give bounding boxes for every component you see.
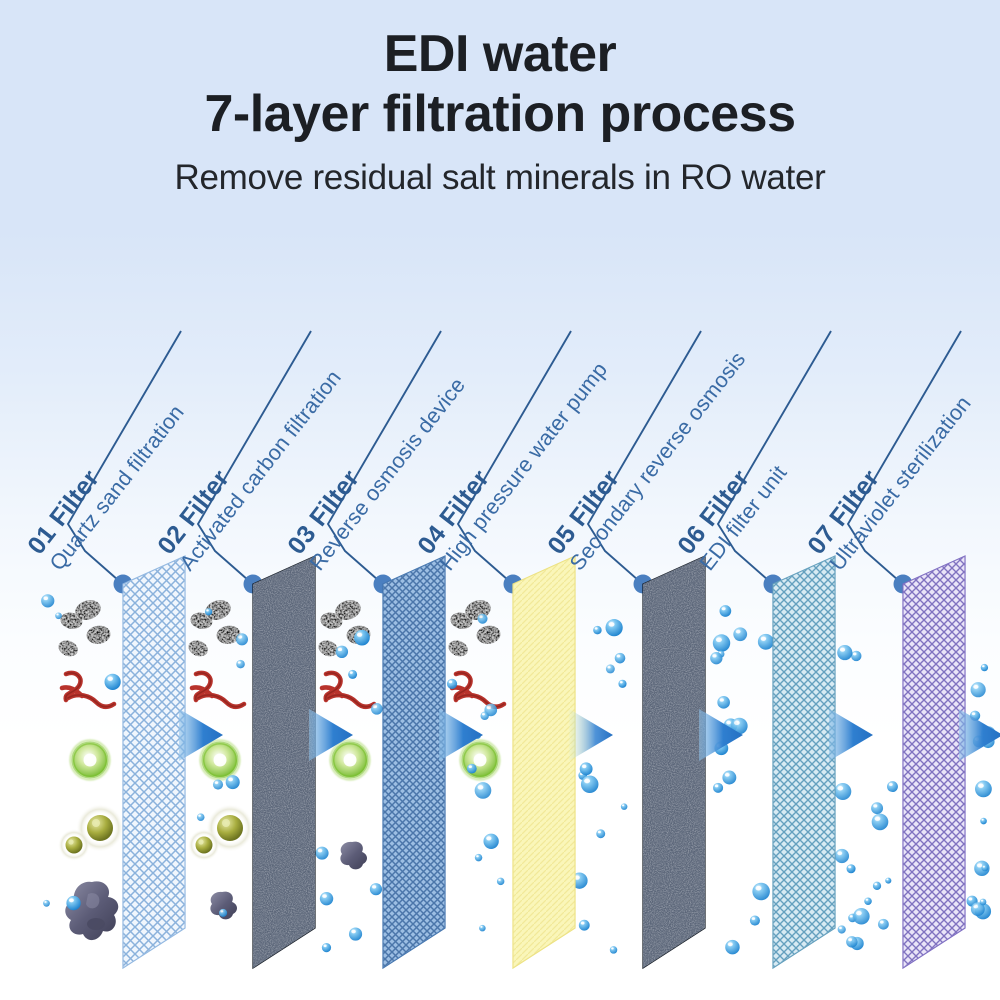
water-droplet	[497, 878, 505, 886]
filter-panel-4[interactable]	[513, 556, 575, 968]
water-droplet	[846, 936, 857, 947]
contaminant-group-4	[446, 597, 504, 780]
water-droplet	[713, 634, 730, 651]
water-droplet	[733, 627, 747, 641]
filter-panel-3[interactable]	[383, 556, 445, 968]
water-droplet	[618, 680, 626, 688]
contaminant-group-1	[56, 597, 124, 940]
water-droplet	[104, 674, 120, 690]
water-droplet	[719, 605, 731, 617]
leader-lines	[68, 331, 961, 580]
water-droplet	[878, 919, 889, 930]
water-droplet	[55, 612, 62, 619]
water-droplet	[853, 908, 870, 925]
water-droplet	[872, 814, 889, 831]
water-droplet	[322, 943, 331, 952]
water-droplet	[615, 653, 626, 664]
filter-panel-1[interactable]	[123, 556, 185, 968]
water-droplet	[596, 829, 605, 838]
water-droplet	[838, 925, 846, 933]
water-droplet	[467, 764, 477, 774]
water-droplet	[197, 813, 205, 821]
water-droplet	[725, 940, 739, 954]
water-droplet	[971, 682, 986, 697]
water-droplet	[713, 783, 723, 793]
water-droplet	[370, 883, 382, 895]
filter-panels	[123, 556, 965, 968]
filter-panel-6[interactable]	[773, 556, 835, 968]
water-droplet	[479, 925, 486, 932]
water-droplet	[480, 712, 488, 720]
water-droplet	[834, 783, 851, 800]
water-droplet	[478, 614, 488, 624]
water-droplet	[41, 594, 54, 607]
filter-panel-2[interactable]	[253, 556, 315, 968]
water-droplet	[980, 818, 987, 825]
water-droplet	[581, 776, 599, 794]
water-droplet	[750, 915, 760, 925]
water-droplet	[219, 909, 227, 917]
water-droplet	[336, 646, 348, 658]
water-droplet	[873, 882, 881, 890]
water-droplet	[580, 762, 593, 775]
water-droplet	[610, 946, 618, 954]
water-droplet	[752, 883, 770, 901]
water-droplet	[213, 780, 223, 790]
water-droplet	[205, 608, 212, 615]
water-droplet	[593, 626, 601, 634]
water-droplet	[717, 696, 730, 709]
water-droplet	[710, 652, 722, 664]
water-droplet	[236, 660, 245, 669]
water-droplet	[722, 771, 736, 785]
water-droplet	[975, 781, 992, 798]
water-droplet	[447, 679, 457, 689]
water-droplet	[579, 920, 590, 931]
water-droplet	[621, 803, 628, 810]
water-droplet	[851, 651, 861, 661]
water-droplet	[320, 892, 333, 905]
water-droplet	[475, 782, 492, 799]
water-droplet	[66, 896, 80, 910]
filter-panel-7[interactable]	[903, 556, 965, 968]
flow-arrow-4	[569, 709, 613, 761]
water-droplet	[226, 775, 240, 789]
water-droplet	[871, 802, 883, 814]
water-droplet	[981, 664, 988, 671]
flow-arrow-6	[829, 709, 873, 761]
water-droplet	[315, 847, 328, 860]
filtration-diagram	[0, 0, 1000, 1000]
water-droplet	[371, 703, 383, 715]
water-droplet	[606, 619, 623, 636]
water-droplet	[236, 633, 248, 645]
water-droplet	[354, 630, 370, 646]
water-droplet	[980, 899, 987, 906]
water-droplet	[835, 849, 849, 863]
water-droplet	[43, 900, 50, 907]
filter-panel-5[interactable]	[643, 556, 705, 968]
water-droplet	[348, 670, 357, 679]
water-droplet	[847, 864, 856, 873]
water-droplet	[885, 878, 891, 884]
water-droplet	[758, 634, 774, 650]
contaminant-group-2	[186, 597, 254, 919]
water-droplet	[475, 854, 482, 861]
water-droplet	[349, 927, 362, 940]
water-droplet	[837, 645, 852, 660]
water-droplet	[606, 664, 615, 673]
infographic-canvas: EDI water 7-layer filtration process Rem…	[0, 0, 1000, 1000]
water-droplet	[982, 865, 989, 872]
water-droplet	[483, 834, 498, 849]
water-droplet	[887, 781, 898, 792]
water-droplet	[864, 897, 872, 905]
